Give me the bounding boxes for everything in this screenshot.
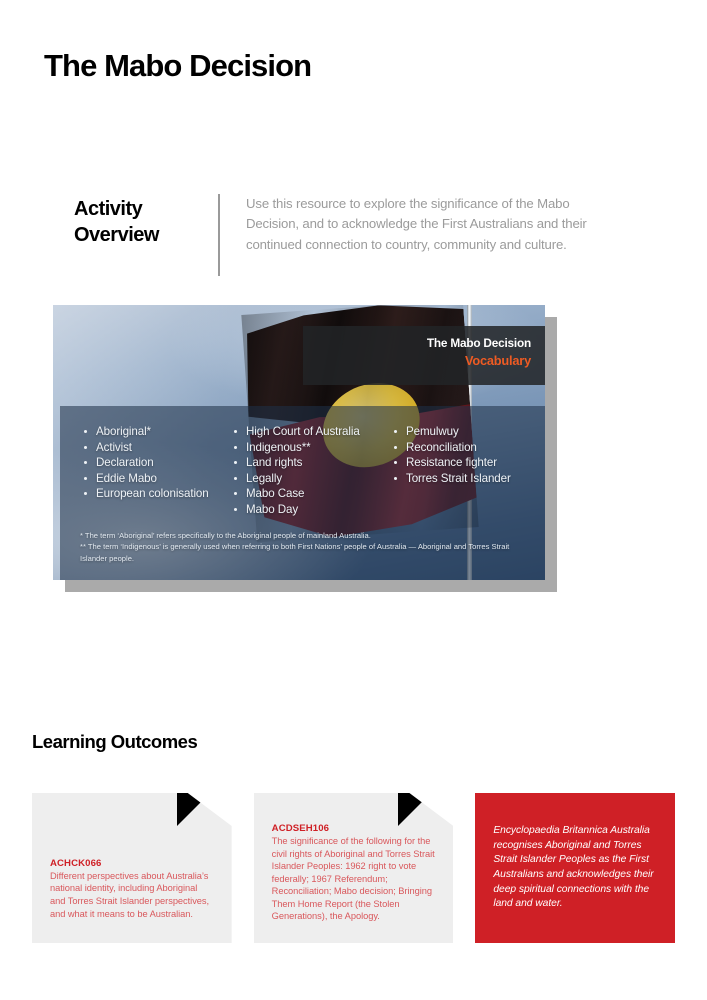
list-item: Resistance fighter xyxy=(390,455,545,471)
learning-outcome-card-2-body: ACDSEH106 The significance of the follow… xyxy=(272,823,436,923)
vocabulary-hero-card: The Mabo Decision Vocabulary Aboriginal*… xyxy=(53,305,545,580)
learning-outcome-card-1-body: ACHCK066 Different perspectives about Au… xyxy=(50,858,214,920)
corner-fold-icon xyxy=(398,793,431,826)
vocabulary-footnotes: * The term ‘Aboriginal’ refers specifica… xyxy=(80,530,531,565)
learning-outcomes-heading: Learning Outcomes xyxy=(32,731,197,753)
vocabulary-list-2: High Court of Australia Indigenous** Lan… xyxy=(230,424,390,517)
list-item: Eddie Mabo xyxy=(80,471,230,487)
learning-outcome-code: ACHCK066 xyxy=(50,858,214,869)
list-item: European colonisation xyxy=(80,486,230,502)
vocabulary-list-3: Pemulwuy Reconciliation Resistance fight… xyxy=(390,424,545,486)
learning-outcome-text: Different perspectives about Australia’s… xyxy=(50,870,214,920)
activity-overview-heading-line2: Overview xyxy=(74,222,218,248)
learning-outcome-text: The significance of the following for th… xyxy=(272,835,436,923)
activity-overview-body: Use this resource to explore the signifi… xyxy=(246,194,608,255)
footnote-single-asterisk: * The term ‘Aboriginal’ refers specifica… xyxy=(80,530,531,542)
vocabulary-column-3: Pemulwuy Reconciliation Resistance fight… xyxy=(390,424,545,517)
list-item: Pemulwuy xyxy=(390,424,545,440)
acknowledgement-card: Encyclopaedia Britannica Australia recog… xyxy=(475,793,675,943)
vocabulary-overlay: Aboriginal* Activist Declaration Eddie M… xyxy=(60,406,545,580)
learning-outcome-card-2: ACDSEH106 The significance of the follow… xyxy=(254,793,454,943)
vocabulary-column-2: High Court of Australia Indigenous** Lan… xyxy=(230,424,390,517)
acknowledgement-card-body: Encyclopaedia Britannica Australia recog… xyxy=(493,824,657,912)
list-item: Reconciliation xyxy=(390,440,545,456)
page-root: The Mabo Decision Activity Overview Use … xyxy=(0,0,707,1000)
vocabulary-column-1: Aboriginal* Activist Declaration Eddie M… xyxy=(80,424,230,517)
vocabulary-list-1: Aboriginal* Activist Declaration Eddie M… xyxy=(80,424,230,502)
hero-header-bar: The Mabo Decision Vocabulary xyxy=(303,326,545,385)
activity-overview-section: Activity Overview Use this resource to e… xyxy=(74,194,634,276)
vertical-divider xyxy=(218,194,220,276)
list-item: Mabo Day xyxy=(230,502,390,518)
list-item: Activist xyxy=(80,440,230,456)
activity-overview-heading: Activity Overview xyxy=(74,194,218,249)
corner-fold-icon xyxy=(177,793,210,826)
activity-overview-heading-line1: Activity xyxy=(74,196,218,222)
hero-header-title: The Mabo Decision xyxy=(303,335,531,352)
list-item: Land rights xyxy=(230,455,390,471)
list-item: High Court of Australia xyxy=(230,424,390,440)
learning-outcome-card-1: ACHCK066 Different perspectives about Au… xyxy=(32,793,232,943)
hero-image-frame: The Mabo Decision Vocabulary Aboriginal*… xyxy=(53,305,545,580)
learning-outcomes-row: ACHCK066 Different perspectives about Au… xyxy=(32,793,675,943)
list-item: Torres Strait Islander xyxy=(390,471,545,487)
footnote-double-asterisk: ** The term ‘Indigenous’ is generally us… xyxy=(80,541,531,564)
list-item: Indigenous** xyxy=(230,440,390,456)
list-item: Legally xyxy=(230,471,390,487)
hero-header-subtitle: Vocabulary xyxy=(303,352,531,371)
list-item: Mabo Case xyxy=(230,486,390,502)
list-item: Aboriginal* xyxy=(80,424,230,440)
page-title: The Mabo Decision xyxy=(44,48,311,84)
vocabulary-columns: Aboriginal* Activist Declaration Eddie M… xyxy=(80,424,535,517)
acknowledgement-text: Encyclopaedia Britannica Australia recog… xyxy=(493,824,657,912)
list-item: Declaration xyxy=(80,455,230,471)
